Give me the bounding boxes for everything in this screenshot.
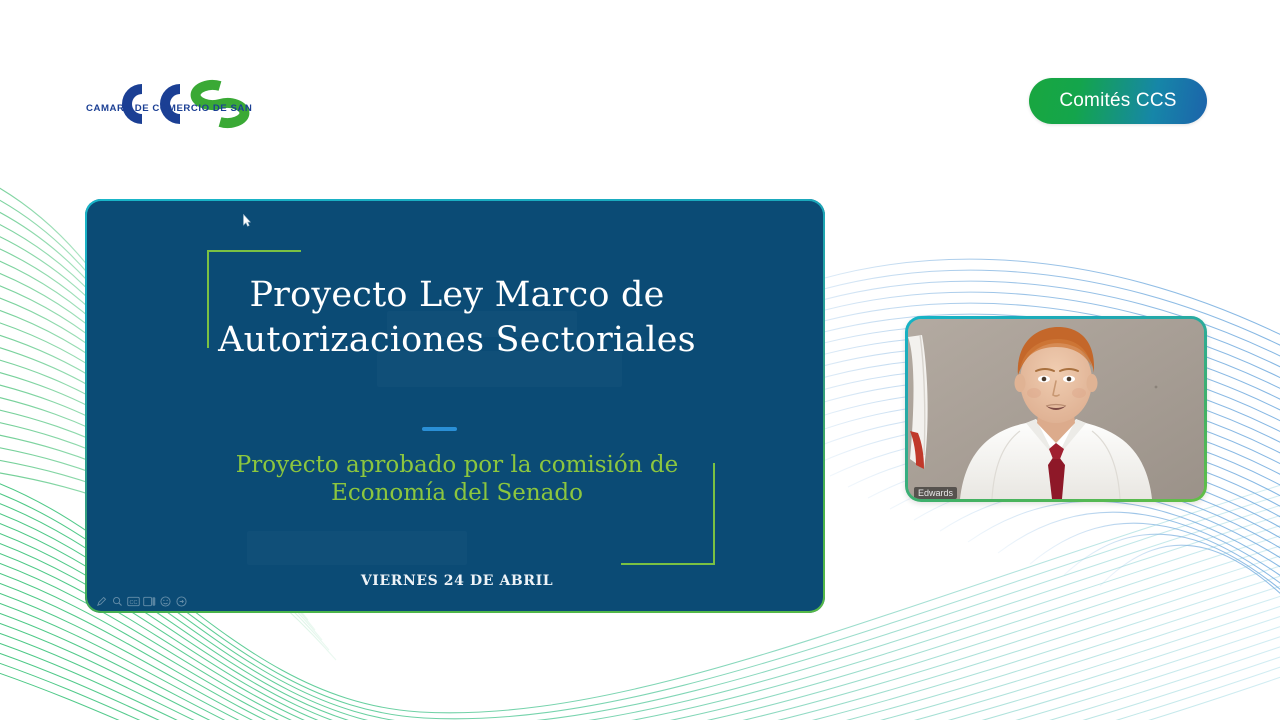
participant-video-tile[interactable]: Edwards — [905, 316, 1207, 502]
emoji-icon[interactable] — [159, 595, 172, 608]
slide-title: Proyecto Ley Marco de Autorizaciones Sec… — [187, 273, 727, 363]
presentation-toolbar[interactable]: CC — [95, 595, 188, 608]
comites-ccs-badge[interactable]: Comités CCS — [1029, 78, 1207, 124]
pen-icon[interactable] — [95, 595, 108, 608]
slide-divider — [422, 427, 457, 431]
svg-text:CC: CC — [130, 600, 138, 606]
closed-caption-icon[interactable]: CC — [127, 595, 140, 608]
slide-ghost-panel — [247, 531, 467, 565]
ccs-logo-tagline: CAMARA DE COMERCIO DE SANTIAGO — [86, 103, 252, 114]
magnifier-icon[interactable] — [111, 595, 124, 608]
ccs-logo: CAMARA DE COMERCIO DE SANTIAGO — [84, 76, 252, 136]
slide-subtitle: Proyecto aprobado por la comisión de Eco… — [187, 451, 727, 507]
slide-view-icon[interactable] — [143, 595, 156, 608]
badge-label: Comités CCS — [1059, 90, 1176, 112]
slide-date: VIERNES 24 DE ABRIL — [187, 573, 727, 589]
mouse-cursor-icon — [243, 214, 251, 227]
participant-name-label: Edwards — [914, 487, 957, 499]
slide-content: Proyecto Ley Marco de Autorizaciones Sec… — [87, 201, 823, 611]
video-surface: Edwards — [908, 319, 1204, 499]
screen-canvas: CAMARA DE COMERCIO DE SANTIAGO Comités C… — [0, 0, 1280, 720]
more-options-icon[interactable] — [175, 595, 188, 608]
shared-slide[interactable]: Proyecto Ley Marco de Autorizaciones Sec… — [85, 199, 825, 613]
